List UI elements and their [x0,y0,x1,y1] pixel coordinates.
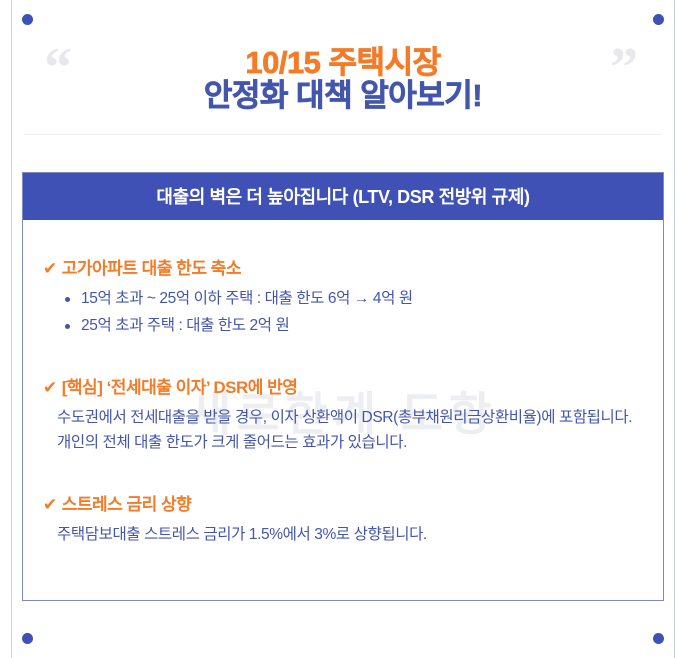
corner-dot-bottom-right [653,633,664,644]
corner-dot-top-left [22,14,33,25]
section-loan-limit-reduction: ✔ 고가아파트 대출 한도 축소 15억 초과 ~ 25억 이하 주택 : 대출… [43,254,643,339]
section-heading: ✔ 스트레스 금리 상향 [43,490,643,515]
section-paragraph: 주택담보대출 스트레스 금리가 1.5%에서 3%로 상향됩니다. [43,522,643,547]
list-item: 15억 초과 ~ 25억 이하 주택 : 대출 한도 6억 → 4억 원 [65,286,643,313]
content-card: 대출의 벽은 더 높아집니다 (LTV, DSR 전방위 규제) 새로한계 도항… [22,172,664,601]
section-heading-label: 스트레스 금리 상향 [62,490,192,515]
quote-close-icon: ” [610,40,638,96]
card-body: 새로한계 도항 ✔ 고가아파트 대출 한도 축소 15억 초과 ~ 25억 이하… [23,220,663,600]
title-band: “ ” 10/15 주택시장 안정화 대책 알아보기! [22,26,664,134]
list-item: 25억 초과 주택 : 대출 한도 2억 원 [65,313,643,340]
page-title: 10/15 주택시장 안정화 대책 알아보기! [204,47,482,113]
bullet-list: 15억 초과 ~ 25억 이하 주택 : 대출 한도 6억 → 4억 원 25억… [43,286,643,339]
check-icon: ✔ [43,496,57,513]
corner-dot-top-right [653,14,664,25]
section-heading-label: 고가아파트 대출 한도 축소 [62,254,241,279]
corner-dot-bottom-left [22,633,33,644]
section-heading: ✔ [핵심] ‘전세대출 이자’ DSR에 반영 [43,373,643,398]
check-icon: ✔ [43,379,57,396]
section-paragraph: 수도권에서 전세대출을 받을 경우, 이자 상환액이 DSR(총부채원리금상환비… [43,405,643,455]
section-jeonse-interest-dsr: ✔ [핵심] ‘전세대출 이자’ DSR에 반영 수도권에서 전세대출을 받을 … [43,373,643,455]
section-stress-rate-increase: ✔ 스트레스 금리 상향 주택담보대출 스트레스 금리가 1.5%에서 3%로 … [43,490,643,547]
quote-open-icon: “ [44,40,72,96]
section-heading: ✔ 고가아파트 대출 한도 축소 [43,254,643,279]
page-edge-left [11,0,12,658]
title-divider [24,134,662,135]
page-title-line-2: 안정화 대책 알아보기! [204,80,482,113]
check-icon: ✔ [43,260,57,277]
page-edge-right [674,0,675,658]
section-heading-label: [핵심] ‘전세대출 이자’ DSR에 반영 [62,373,298,398]
card-header-title: 대출의 벽은 더 높아집니다 (LTV, DSR 전방위 규제) [23,173,663,220]
page-title-line-1: 10/15 주택시장 [204,47,482,80]
